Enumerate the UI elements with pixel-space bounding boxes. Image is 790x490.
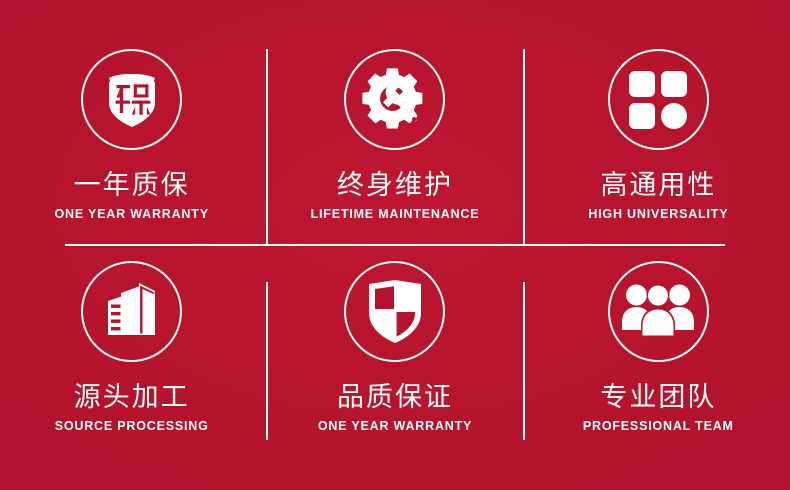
feature-title-cn: 高通用性 (600, 172, 716, 199)
shield-quadrant-icon (344, 261, 445, 362)
feature-item-quality: 品质保证 ONE YEAR WARRANTY (263, 223, 526, 438)
feature-title-cn: 品质保证 (337, 384, 453, 411)
factory-building-icon (81, 261, 182, 362)
feature-title-en: PROFESSIONAL TEAM (583, 420, 734, 433)
feature-title-en: LIFETIME MAINTENANCE (311, 208, 480, 221)
feature-title-en: ONE YEAR WARRANTY (318, 420, 472, 433)
feature-item-universality: 高通用性 HIGH UNIVERSALITY (527, 0, 790, 223)
feature-title-en: SOURCE PROCESSING (55, 420, 209, 433)
feature-item-warranty: 一年质保 ONE YEAR WARRANTY (0, 0, 263, 223)
feature-title-cn: 专业团队 (600, 384, 716, 411)
features-banner: 一年质保 ONE YEAR WARRANTY 终身维护 LIFETIME MAI… (0, 0, 790, 490)
four-blocks-grid-icon (608, 49, 709, 150)
feature-item-team: 专业团队 PROFESSIONAL TEAM (527, 223, 790, 438)
feature-item-maintenance: 终身维护 LIFETIME MAINTENANCE (263, 0, 526, 223)
feature-title-cn: 源头加工 (74, 384, 190, 411)
feature-title-cn: 一年质保 (74, 172, 190, 199)
features-grid: 一年质保 ONE YEAR WARRANTY 终身维护 LIFETIME MAI… (0, 0, 790, 490)
feature-title-en: ONE YEAR WARRANTY (54, 208, 208, 221)
feature-title-en: HIGH UNIVERSALITY (588, 208, 728, 221)
gear-wrench-icon (344, 49, 445, 150)
feature-item-source-processing: 源头加工 SOURCE PROCESSING (0, 223, 263, 438)
people-group-icon (608, 261, 709, 362)
shield-badge-bao-icon (81, 49, 182, 150)
feature-title-cn: 终身维护 (337, 172, 453, 199)
